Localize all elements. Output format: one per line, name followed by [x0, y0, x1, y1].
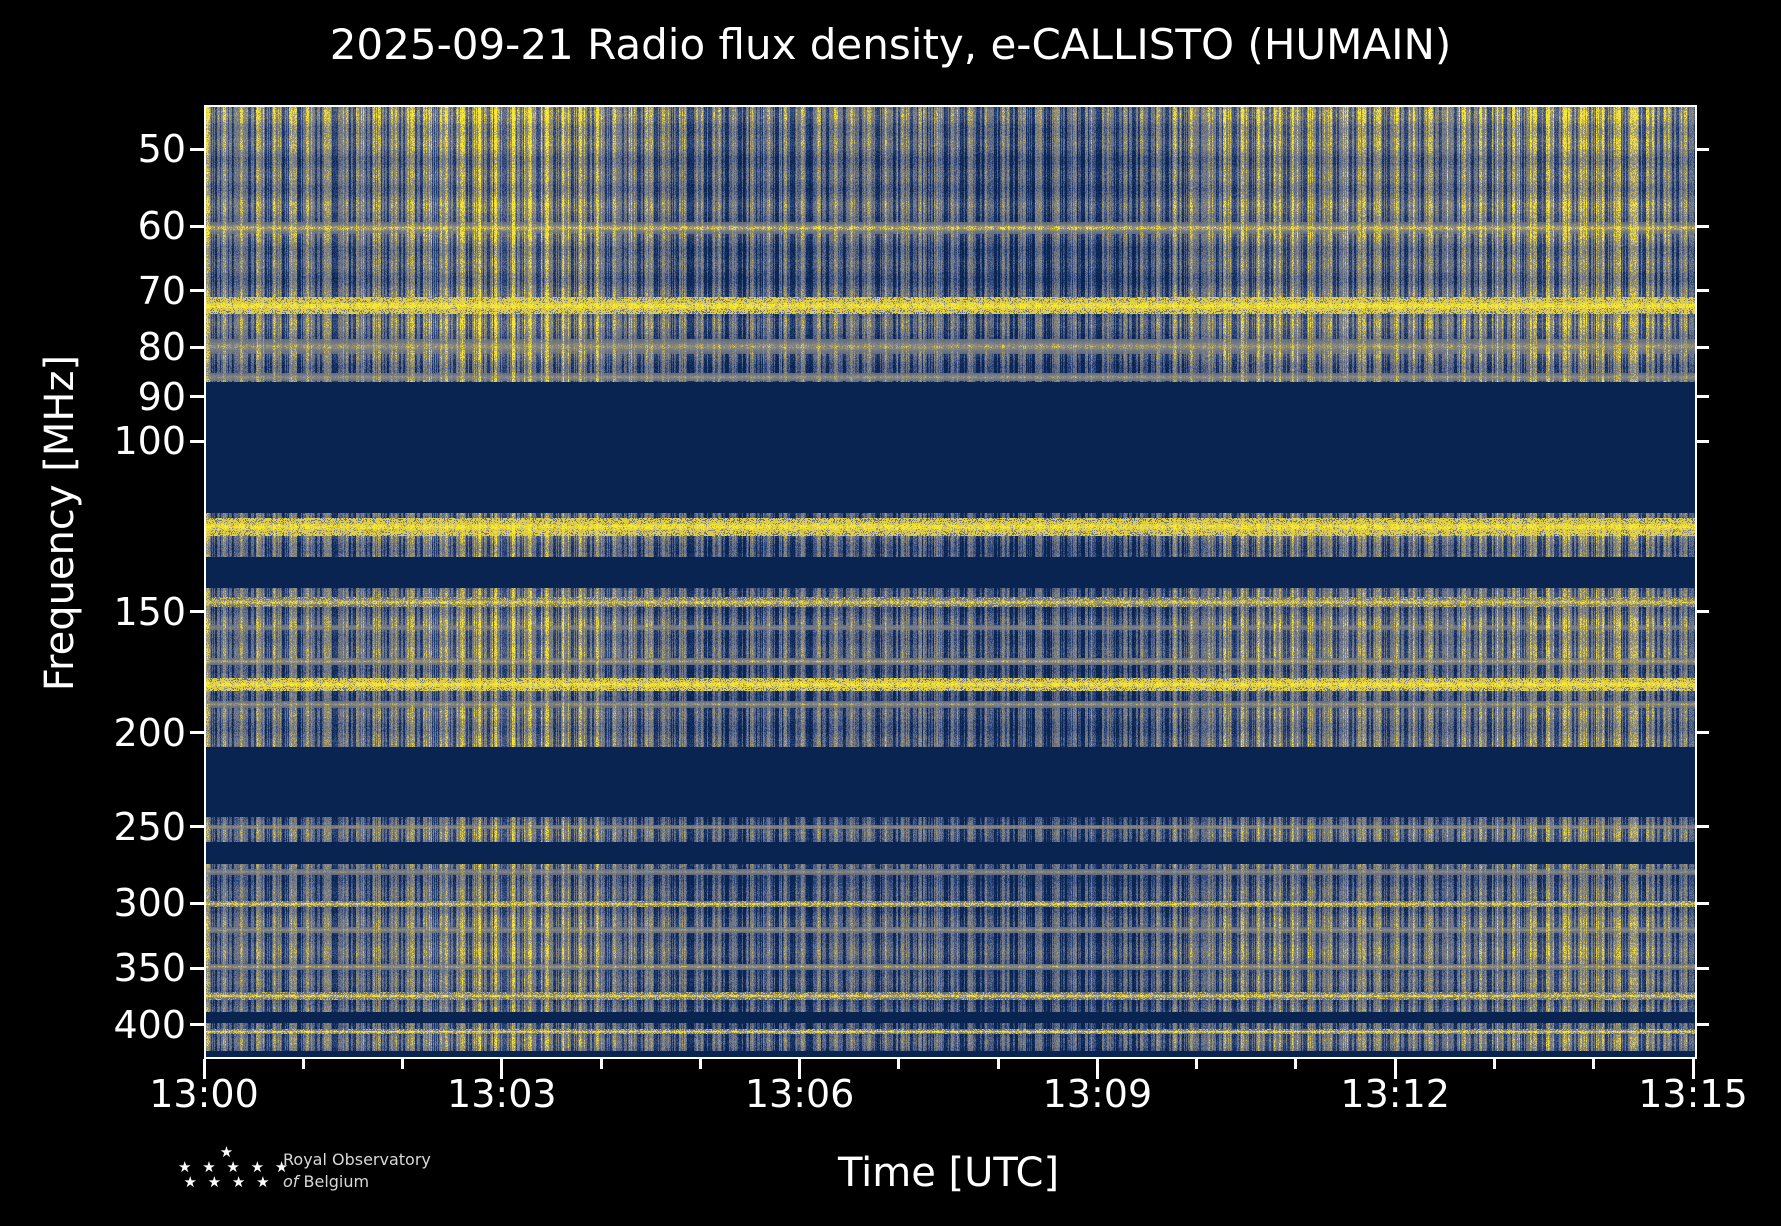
y-tick-mark-right — [1695, 731, 1709, 734]
x-tick-mark-minor — [401, 1059, 404, 1069]
y-tick-mark-right — [1695, 825, 1709, 828]
x-tick-mark-minor — [1592, 1059, 1595, 1069]
y-tick-label: 200 — [36, 711, 186, 755]
y-axis-label: Frequency [MHz] — [37, 143, 83, 903]
y-tick-mark — [190, 731, 204, 734]
y-tick-label: 80 — [36, 325, 186, 369]
spectrogram-canvas[interactable] — [206, 107, 1695, 1057]
y-tick-mark — [190, 1023, 204, 1026]
y-tick-mark — [190, 225, 204, 228]
y-tick-label: 350 — [36, 946, 186, 990]
logo-line-1: Royal Observatory — [283, 1149, 431, 1171]
y-tick-mark-right — [1695, 902, 1709, 905]
x-tick-mark-minor — [302, 1059, 305, 1069]
y-tick-mark — [190, 967, 204, 970]
y-tick-mark-right — [1695, 967, 1709, 970]
y-tick-label: 400 — [36, 1003, 186, 1047]
x-tick-mark-minor — [1195, 1059, 1198, 1069]
y-tick-mark-right — [1695, 1023, 1709, 1026]
y-tick-label: 50 — [36, 127, 186, 171]
y-tick-label: 100 — [36, 419, 186, 463]
y-tick-label: 300 — [36, 881, 186, 925]
x-tick-label: 13:03 — [447, 1072, 557, 1116]
x-tick-mark-minor — [1294, 1059, 1297, 1069]
x-tick-label: 13:06 — [745, 1072, 855, 1116]
y-tick-label: 60 — [36, 204, 186, 248]
star-row: ★ ★ ★ ★ — [178, 1175, 278, 1190]
y-tick-mark-right — [1695, 148, 1709, 151]
x-tick-label: 13:12 — [1340, 1072, 1450, 1116]
logo-of: of — [283, 1172, 298, 1191]
x-tick-mark-minor — [1493, 1059, 1496, 1069]
page-title: 2025-09-21 Radio flux density, e-CALLIST… — [0, 20, 1781, 69]
y-tick-mark-right — [1695, 440, 1709, 443]
y-tick-label: 70 — [36, 269, 186, 313]
y-tick-mark — [190, 610, 204, 613]
x-tick-label: 13:00 — [149, 1072, 259, 1116]
y-tick-mark-right — [1695, 289, 1709, 292]
y-tick-mark-right — [1695, 346, 1709, 349]
logo-text: Royal Observatory of Belgium — [283, 1149, 431, 1192]
y-tick-mark — [190, 825, 204, 828]
y-tick-mark-right — [1695, 225, 1709, 228]
stars-icon: ★★ ★ ★ ★ ★★ ★ ★ ★ — [178, 1145, 278, 1203]
y-tick-mark — [190, 395, 204, 398]
x-tick-label: 13:09 — [1043, 1072, 1153, 1116]
royal-observatory-logo: ★★ ★ ★ ★ ★★ ★ ★ ★ Royal Observatory of B… — [178, 1145, 428, 1207]
y-tick-mark — [190, 902, 204, 905]
y-tick-mark-right — [1695, 395, 1709, 398]
x-tick-mark-minor — [997, 1059, 1000, 1069]
y-tick-mark — [190, 440, 204, 443]
spectrogram-plot[interactable] — [204, 105, 1697, 1059]
x-tick-mark-minor — [897, 1059, 900, 1069]
x-tick-mark-minor — [699, 1059, 702, 1069]
y-tick-mark — [190, 289, 204, 292]
y-tick-label: 90 — [36, 375, 186, 419]
y-tick-mark — [190, 346, 204, 349]
y-tick-label: 250 — [36, 805, 186, 849]
spectrogram-figure: 2025-09-21 Radio flux density, e-CALLIST… — [0, 0, 1781, 1226]
logo-belgium: Belgium — [298, 1172, 369, 1191]
y-tick-mark — [190, 148, 204, 151]
y-tick-mark-right — [1695, 610, 1709, 613]
x-tick-label: 13:15 — [1638, 1072, 1748, 1116]
logo-line-2: of Belgium — [283, 1171, 431, 1193]
x-tick-mark-minor — [600, 1059, 603, 1069]
y-tick-label: 150 — [36, 590, 186, 634]
